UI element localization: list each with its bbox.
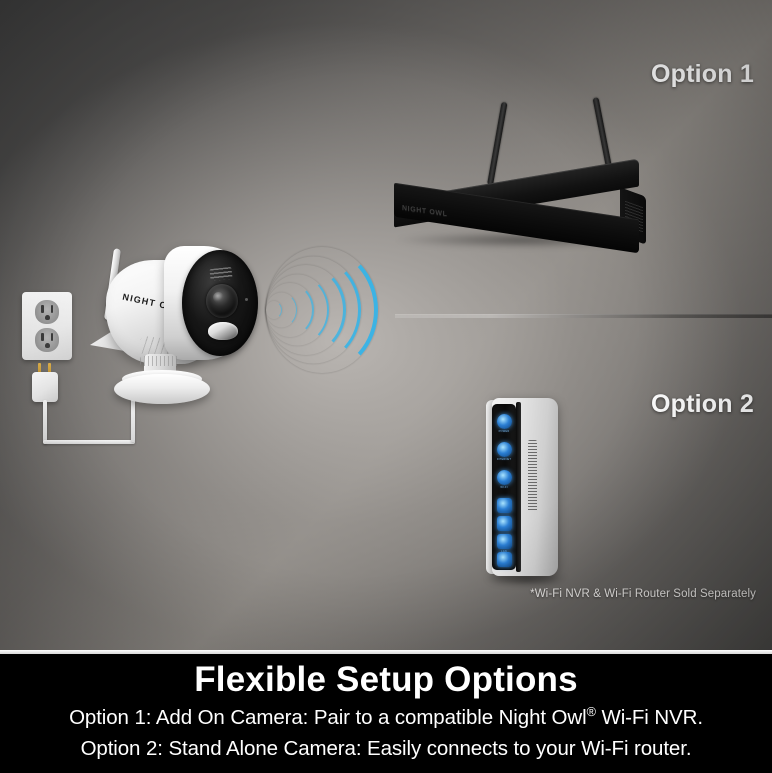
power-cable-vertical bbox=[43, 400, 47, 444]
power-led: POWER bbox=[496, 414, 512, 433]
banner-line1-suffix: Wi-Fi NVR. bbox=[596, 706, 703, 729]
camera-microphone bbox=[245, 298, 248, 301]
lan2-led bbox=[496, 516, 512, 532]
wifi-signal-icon bbox=[266, 252, 370, 368]
socket-slot-left bbox=[41, 305, 44, 313]
socket-ground bbox=[45, 315, 50, 320]
lan4-led-glyph bbox=[497, 552, 512, 567]
socket-slot-left bbox=[41, 333, 44, 341]
registered-trademark-symbol: ® bbox=[587, 704, 596, 719]
power-cable-horizontal bbox=[43, 440, 135, 444]
banner-option-2-text: Option 2: Stand Alone Camera: Easily con… bbox=[0, 736, 772, 762]
security-camera: NIGHT OWL bbox=[78, 238, 288, 428]
power-led-glyph bbox=[497, 414, 512, 429]
camera-mount-base bbox=[114, 374, 210, 404]
banner-title: Flexible Setup Options bbox=[0, 662, 772, 699]
wifi-arc-7 bbox=[266, 247, 378, 373]
bottom-banner: Flexible Setup Options Option 1: Add On … bbox=[0, 654, 772, 773]
lan4-led bbox=[496, 552, 512, 568]
socket-ground bbox=[45, 343, 50, 348]
wall-outlet bbox=[22, 292, 78, 370]
router-vent-slits bbox=[528, 440, 537, 512]
camera-mount-knurl bbox=[140, 356, 180, 366]
banner-line1-prefix: Option 1: Add On Camera: Pair to a compa… bbox=[69, 706, 587, 729]
wireless-led-glyph bbox=[497, 470, 512, 485]
power-led-caption: POWER bbox=[496, 430, 512, 433]
option-1-label: Option 1 bbox=[651, 60, 754, 89]
outlet-socket-top bbox=[35, 300, 59, 324]
nvr-antenna-left bbox=[487, 102, 507, 186]
wifi-router-device: POWERINTERNETWI-FILAN bbox=[470, 398, 580, 583]
camera-lens bbox=[206, 284, 238, 318]
camera-pir-sensor bbox=[208, 322, 238, 340]
socket-slot-right bbox=[51, 305, 54, 313]
wifi-nvr-device: NIGHT OWL bbox=[392, 96, 672, 241]
section-divider bbox=[395, 314, 772, 318]
power-adapter bbox=[32, 372, 58, 402]
router-panel-gap bbox=[516, 402, 521, 572]
disclaimer-text: *Wi-Fi NVR & Wi-Fi Router Sold Separatel… bbox=[530, 588, 756, 600]
internet-led: INTERNET bbox=[496, 442, 512, 461]
wireless-led-caption: WI-FI bbox=[496, 486, 512, 489]
lan1-led-glyph bbox=[497, 498, 512, 513]
lan3-led-glyph bbox=[497, 534, 512, 549]
option-2-label: Option 2 bbox=[651, 390, 754, 419]
scene-photo: NIGHT OWL NIGHT OWL bbox=[0, 0, 772, 652]
outlet-socket-bottom bbox=[35, 328, 59, 352]
lan2-led-glyph bbox=[497, 516, 512, 531]
camera-speaker-grille bbox=[209, 267, 232, 281]
product-marketing-image: NIGHT OWL NIGHT OWL bbox=[0, 0, 772, 773]
banner-option-1-text: Option 1: Add On Camera: Pair to a compa… bbox=[0, 704, 772, 731]
wireless-led: WI-FI bbox=[496, 470, 512, 489]
socket-slot-right bbox=[51, 333, 54, 341]
lan1-led bbox=[496, 498, 512, 514]
internet-led-glyph bbox=[497, 442, 512, 457]
internet-led-caption: INTERNET bbox=[496, 458, 512, 461]
adapter-brick bbox=[32, 372, 58, 402]
lan3-led: LAN bbox=[496, 534, 512, 553]
